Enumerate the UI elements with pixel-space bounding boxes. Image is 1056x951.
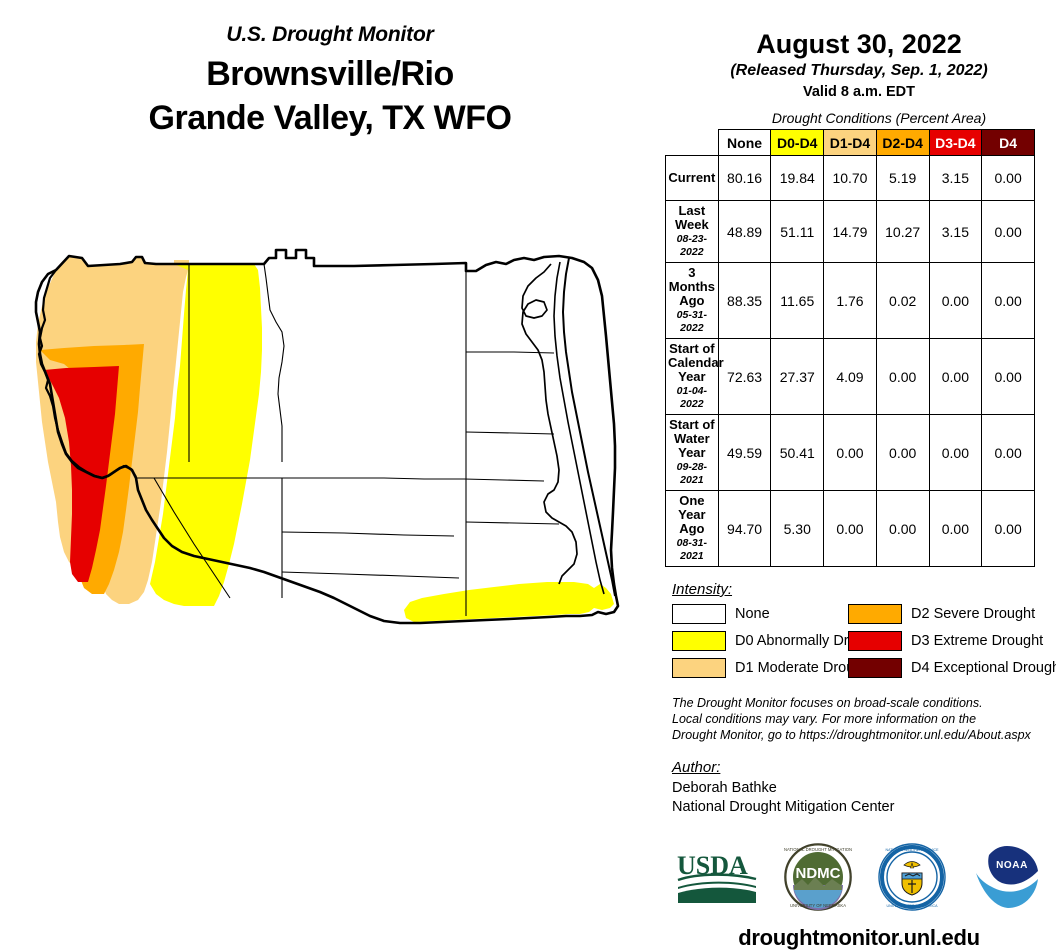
row-label-text: One Year Ago xyxy=(678,493,705,536)
col-header-d3d4: D3-D4 xyxy=(929,130,982,156)
author-block: Author: Deborah Bathke National Drought … xyxy=(672,759,1056,817)
col-header-d0d4: D0-D4 xyxy=(771,130,824,156)
drought-conditions-table: None D0-D4 D1-D4 D2-D4 D3-D4 D4 Current … xyxy=(665,129,1035,567)
disclaimer-line-2: Local conditions may vary. For more info… xyxy=(672,711,1056,727)
table-row: Current 80.16 19.84 10.70 5.19 3.15 0.00 xyxy=(666,156,1035,201)
swatch-none xyxy=(672,604,726,624)
intensity-heading: Intensity: xyxy=(672,581,1056,598)
table-corner-blank xyxy=(666,130,719,156)
noaa-nws-logo: NATIONAL WEATHER SERVICE UNITED STATES O… xyxy=(878,843,946,911)
svg-text:NATIONAL WEATHER SERVICE: NATIONAL WEATHER SERVICE xyxy=(886,848,940,852)
release-date: (Released Thursday, Sep. 1, 2022) xyxy=(662,60,1056,82)
cell-current-d1d4: 10.70 xyxy=(824,156,877,201)
legend-item-d3: D3 Extreme Drought xyxy=(848,631,1056,651)
cell-current-d0d4: 19.84 xyxy=(771,156,824,201)
cell-oneyear-d3d4: 0.00 xyxy=(929,491,982,567)
row-label-text: Current xyxy=(668,170,715,185)
legend-item-d1: D1 Moderate Drought xyxy=(672,658,848,678)
col-header-d1d4: D1-D4 xyxy=(824,130,877,156)
cell-calyear-d0d4: 27.37 xyxy=(771,339,824,415)
drought-conditions-table-wrapper: None D0-D4 D1-D4 D2-D4 D3-D4 D4 Current … xyxy=(662,129,1056,567)
legend-label-d2: D2 Severe Drought xyxy=(911,606,1035,622)
cell-current-none: 80.16 xyxy=(718,156,771,201)
row-label-date: 08-31-2021 xyxy=(668,537,716,563)
cell-lastweek-d4: 0.00 xyxy=(982,201,1035,263)
legend-item-d0: D0 Abnormally Dry xyxy=(672,631,848,651)
cell-wateryear-d0d4: 50.41 xyxy=(771,415,824,491)
legend-label-d4: D4 Exceptional Drought xyxy=(911,660,1056,676)
site-url: droughtmonitor.unl.edu xyxy=(662,925,1056,951)
legend-label-none: None xyxy=(735,606,770,622)
cell-3months-d0d4: 11.65 xyxy=(771,263,824,339)
row-label-date: 01-04-2022 xyxy=(668,385,716,411)
legend-item-none: None xyxy=(672,604,848,624)
cell-calyear-d2d4: 0.00 xyxy=(876,339,929,415)
cell-wateryear-d1d4: 0.00 xyxy=(824,415,877,491)
cell-oneyear-none: 94.70 xyxy=(718,491,771,567)
row-label-last-week: Last Week 08-23-2022 xyxy=(666,201,719,263)
disclaimer-text: The Drought Monitor focuses on broad-sca… xyxy=(672,695,1056,743)
drought-map xyxy=(14,232,654,672)
row-label-text: Last Week xyxy=(675,203,709,232)
cell-lastweek-d0d4: 51.11 xyxy=(771,201,824,263)
wfo-title-line2: Grande Valley, TX WFO xyxy=(0,96,660,140)
svg-text:UNITED STATES OF AMERICA: UNITED STATES OF AMERICA xyxy=(887,904,939,908)
valid-time: Valid 8 a.m. EDT xyxy=(662,82,1056,102)
row-label-text: Start ofWater Year xyxy=(668,418,716,460)
swatch-d4 xyxy=(848,658,902,678)
row-label-date: 09-28-2021 xyxy=(668,461,716,487)
usda-logo: USDA xyxy=(676,849,758,905)
cell-oneyear-d2d4: 0.00 xyxy=(876,491,929,567)
cell-3months-d2d4: 0.02 xyxy=(876,263,929,339)
row-label-current: Current xyxy=(666,156,719,201)
cell-3months-d1d4: 1.76 xyxy=(824,263,877,339)
row-label-date: 08-23-2022 xyxy=(668,233,716,259)
ndmc-logo: NDMC NATIONAL DROUGHT MITIGATION UNIVERS… xyxy=(784,843,852,911)
cell-lastweek-none: 48.89 xyxy=(718,201,771,263)
col-header-d4: D4 xyxy=(982,130,1035,156)
legend-item-d2: D2 Severe Drought xyxy=(848,604,1056,624)
swatch-d0 xyxy=(672,631,726,651)
cell-lastweek-d2d4: 10.27 xyxy=(876,201,929,263)
swatch-d2 xyxy=(848,604,902,624)
cell-calyear-d4: 0.00 xyxy=(982,339,1035,415)
table-body: Current 80.16 19.84 10.70 5.19 3.15 0.00… xyxy=(666,156,1035,567)
report-date: August 30, 2022 xyxy=(662,28,1056,60)
author-heading: Author: xyxy=(672,759,1056,776)
row-label-3-months-ago: 3 Months Ago 05-31-2022 xyxy=(666,263,719,339)
cell-3months-none: 88.35 xyxy=(718,263,771,339)
svg-text:NDMC: NDMC xyxy=(796,865,841,882)
row-label-text: 3 Months Ago xyxy=(669,265,715,308)
program-title: U.S. Drought Monitor xyxy=(0,22,660,48)
legend-label-d3: D3 Extreme Drought xyxy=(911,633,1043,649)
cell-3months-d3d4: 0.00 xyxy=(929,263,982,339)
date-block: August 30, 2022 (Released Thursday, Sep.… xyxy=(662,0,1056,102)
svg-text:NATIONAL DROUGHT MITIGATION: NATIONAL DROUGHT MITIGATION xyxy=(784,847,852,852)
noaa-logo: NOAA xyxy=(972,843,1042,911)
table-row: 3 Months Ago 05-31-2022 88.35 11.65 1.76… xyxy=(666,263,1035,339)
cell-wateryear-d4: 0.00 xyxy=(982,415,1035,491)
col-header-none: None xyxy=(718,130,771,156)
table-row: Last Week 08-23-2022 48.89 51.11 14.79 1… xyxy=(666,201,1035,263)
cell-calyear-none: 72.63 xyxy=(718,339,771,415)
swatch-d3 xyxy=(848,631,902,651)
cell-lastweek-d1d4: 14.79 xyxy=(824,201,877,263)
logo-row: USDA NDMC NATIONAL DROUGHT MITIGATION UN… xyxy=(662,839,1056,915)
disclaimer-line-3: Drought Monitor, go to https://droughtmo… xyxy=(672,727,1056,743)
svg-text:NOAA: NOAA xyxy=(996,860,1028,871)
table-header-row: None D0-D4 D1-D4 D2-D4 D3-D4 D4 xyxy=(666,130,1035,156)
page-title: Brownsville/Rio Grande Valley, TX WFO xyxy=(0,52,660,140)
row-label-date: 05-31-2022 xyxy=(668,309,716,335)
swatch-d1 xyxy=(672,658,726,678)
row-label-text: Start ofCalendar Year xyxy=(668,342,716,384)
row-label-start-calendar-year: Start ofCalendar Year 01-04-2022 xyxy=(666,339,719,415)
cell-current-d2d4: 5.19 xyxy=(876,156,929,201)
cell-wateryear-d3d4: 0.00 xyxy=(929,415,982,491)
row-label-start-water-year: Start ofWater Year 09-28-2021 xyxy=(666,415,719,491)
legend-grid: None D2 Severe Drought D0 Abnormally Dry… xyxy=(672,604,1056,678)
cell-calyear-d1d4: 4.09 xyxy=(824,339,877,415)
row-label-one-year-ago: One Year Ago 08-31-2021 xyxy=(666,491,719,567)
right-panel: August 30, 2022 (Released Thursday, Sep.… xyxy=(662,0,1056,816)
legend-label-d0: D0 Abnormally Dry xyxy=(735,633,856,649)
map-barrier-island xyxy=(563,258,615,596)
cell-oneyear-d1d4: 0.00 xyxy=(824,491,877,567)
author-name: Deborah Bathke xyxy=(672,779,1056,798)
col-header-d2d4: D2-D4 xyxy=(876,130,929,156)
legend-item-d4: D4 Exceptional Drought xyxy=(848,658,1056,678)
intensity-legend: Intensity: None D2 Severe Drought D0 Abn… xyxy=(672,581,1056,678)
cell-wateryear-d2d4: 0.00 xyxy=(876,415,929,491)
cell-current-d4: 0.00 xyxy=(982,156,1035,201)
cell-3months-d4: 0.00 xyxy=(982,263,1035,339)
table-caption: Drought Conditions (Percent Area) xyxy=(702,110,1056,126)
table-row: One Year Ago 08-31-2021 94.70 5.30 0.00 … xyxy=(666,491,1035,567)
cell-wateryear-none: 49.59 xyxy=(718,415,771,491)
cell-current-d3d4: 3.15 xyxy=(929,156,982,201)
author-organization: National Drought Mitigation Center xyxy=(672,798,1056,817)
svg-text:UNIVERSITY OF NEBRASKA: UNIVERSITY OF NEBRASKA xyxy=(790,903,846,908)
title-block: U.S. Drought Monitor Brownsville/Rio Gra… xyxy=(0,22,660,140)
cell-oneyear-d0d4: 5.30 xyxy=(771,491,824,567)
wfo-title-line1: Brownsville/Rio xyxy=(0,52,660,96)
cell-lastweek-d3d4: 3.15 xyxy=(929,201,982,263)
cell-oneyear-d4: 0.00 xyxy=(982,491,1035,567)
disclaimer-line-1: The Drought Monitor focuses on broad-sca… xyxy=(672,695,1056,711)
cell-calyear-d3d4: 0.00 xyxy=(929,339,982,415)
table-row: Start ofWater Year 09-28-2021 49.59 50.4… xyxy=(666,415,1035,491)
table-row: Start ofCalendar Year 01-04-2022 72.63 2… xyxy=(666,339,1035,415)
